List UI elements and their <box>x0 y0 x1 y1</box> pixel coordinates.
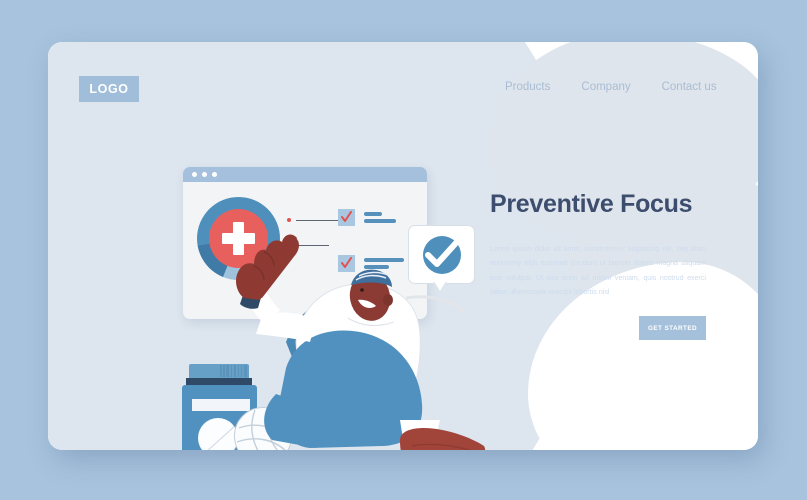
medical-cross-icon-bar <box>222 233 255 244</box>
browser-mockup <box>183 167 427 319</box>
speech-bubble-tail <box>433 280 447 291</box>
text-bar <box>364 219 396 223</box>
get-started-button[interactable]: GET STARTED <box>639 316 706 340</box>
nav-item-contact-us[interactable]: Contact us <box>662 81 717 93</box>
pill-icon <box>198 418 238 450</box>
pill-bottle-label <box>192 399 250 411</box>
browser-titlebar <box>183 167 427 182</box>
checklist-text-bars <box>364 212 396 223</box>
leader-dot-icon <box>287 243 291 247</box>
nav-item-products[interactable]: Products <box>505 81 550 93</box>
check-circle-icon <box>423 236 461 274</box>
hero-body-text: Lorem ipsum dolor sit amet, consectetuer… <box>490 242 706 299</box>
page-title: Preventive Focus <box>490 190 692 219</box>
window-dot-close-icon <box>192 172 197 177</box>
logo-badge[interactable]: LOGO <box>79 76 139 102</box>
window-dot-minimize-icon <box>202 172 207 177</box>
barcode-icon <box>220 365 248 377</box>
nav-item-company[interactable]: Company <box>581 81 630 93</box>
checklist-text-bars <box>364 258 404 269</box>
checkbox-checked-icon[interactable] <box>338 255 355 272</box>
checklist-item[interactable] <box>338 255 404 272</box>
leader-rule <box>296 245 329 246</box>
landing-card: LOGO Products Company Contact us Prevent… <box>48 42 758 450</box>
checklist-item[interactable] <box>338 209 396 226</box>
page-root: LOGO Products Company Contact us Prevent… <box>0 0 807 500</box>
text-bar <box>364 265 389 269</box>
text-bar <box>364 258 404 262</box>
window-dot-maximize-icon <box>212 172 217 177</box>
main-navigation: Products Company Contact us <box>505 81 717 93</box>
text-bar <box>364 212 382 216</box>
checkbox-checked-icon[interactable] <box>338 209 355 226</box>
pill-seam <box>205 424 237 450</box>
speech-bubble <box>408 225 475 284</box>
leader-dot-icon <box>287 218 291 222</box>
medical-cross-badge <box>209 209 268 268</box>
leader-line-2 <box>287 243 329 247</box>
